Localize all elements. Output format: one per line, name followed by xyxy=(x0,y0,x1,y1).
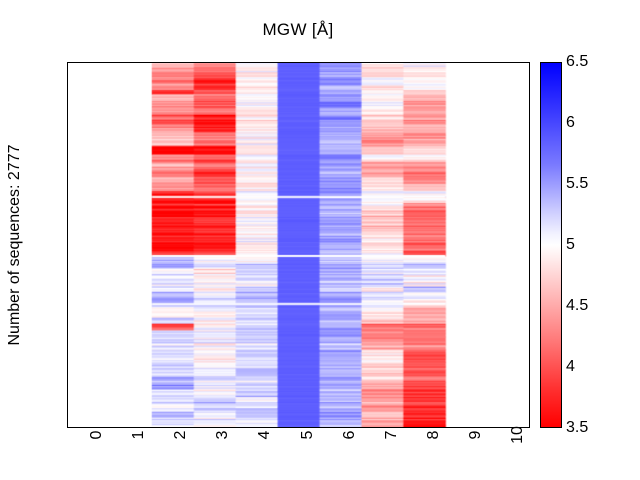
x-tick-label: 7 xyxy=(383,431,401,440)
y-axis-label-text: Number of sequences: 2777 xyxy=(6,144,24,345)
x-tick-label: 10 xyxy=(509,426,527,444)
x-tick-label: 6 xyxy=(341,431,359,440)
x-axis-tick-labels: 012345678910 xyxy=(67,429,530,479)
x-tick-label: 8 xyxy=(425,431,443,440)
colorbar-tick-6: 6 xyxy=(566,114,575,132)
colorbar-gradient xyxy=(540,62,562,428)
colorbar-tick-labels: 6.565.554.543.5 xyxy=(566,62,636,428)
y-axis-label: Number of sequences: 2777 xyxy=(0,62,30,428)
colorbar-tick-5: 5 xyxy=(566,236,575,254)
x-tick-label: 5 xyxy=(299,431,317,440)
heatmap-figure: MGW [Å] Number of sequences: 2777 012345… xyxy=(0,0,640,480)
page-title: MGW [Å] xyxy=(0,20,596,40)
x-tick-label: 9 xyxy=(467,431,485,440)
x-tick-label: 3 xyxy=(214,431,232,440)
colorbar xyxy=(540,62,562,428)
x-tick-label: 4 xyxy=(256,431,274,440)
colorbar-tick-5.5: 5.5 xyxy=(566,175,588,193)
colorbar-tick-6.5: 6.5 xyxy=(566,53,588,71)
heatmap-plot-area xyxy=(67,62,530,428)
colorbar-tick-3.5: 3.5 xyxy=(566,419,588,437)
x-tick-label: 1 xyxy=(130,431,148,440)
colorbar-tick-4.5: 4.5 xyxy=(566,297,588,315)
heatmap-canvas xyxy=(68,63,529,427)
x-tick-label: 2 xyxy=(172,431,190,440)
x-tick-label: 0 xyxy=(88,431,106,440)
colorbar-tick-4: 4 xyxy=(566,358,575,376)
